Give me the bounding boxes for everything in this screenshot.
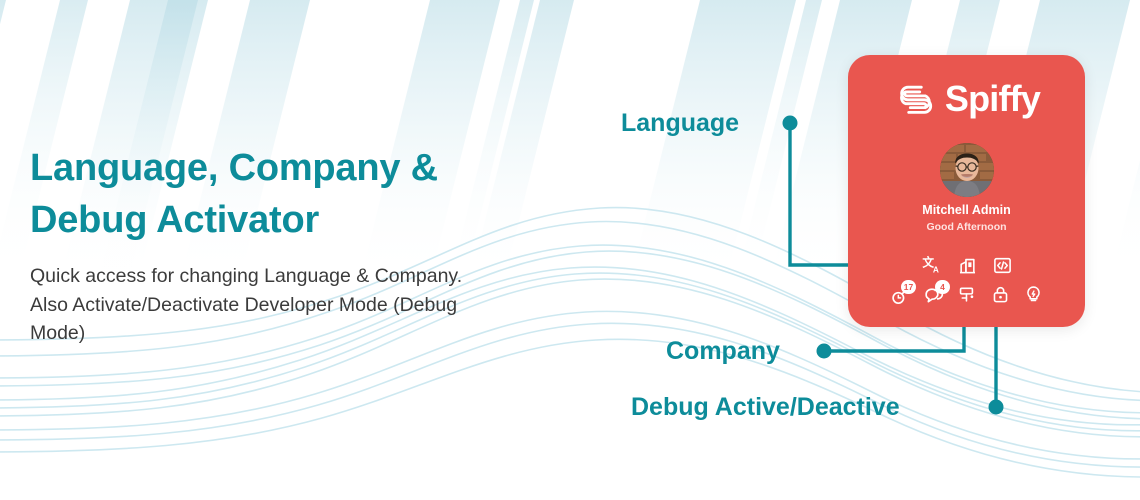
connector-dot-company <box>817 344 832 359</box>
connector-dot-language <box>783 116 798 131</box>
status-icons-row: 17 4 <box>848 285 1085 305</box>
company-building-icon[interactable] <box>958 256 977 275</box>
spiffy-user-card: Spiffy <box>848 55 1085 327</box>
brand-logo: Spiffy <box>848 77 1085 121</box>
clock-activity-icon[interactable]: 17 <box>890 285 910 305</box>
user-avatar-photo-icon <box>940 143 994 197</box>
lock-icon[interactable] <box>991 285 1010 304</box>
avatar[interactable] <box>940 143 994 197</box>
connector-dot-debug <box>989 400 1004 415</box>
quick-actions-row: 文 A <box>848 255 1085 275</box>
promo-banner: Language, Company & Debug Activator Quic… <box>0 0 1140 500</box>
brand-name: Spiffy <box>945 81 1040 117</box>
chat-bubble-icon[interactable]: 4 <box>924 285 944 305</box>
code-debug-icon[interactable] <box>993 256 1012 275</box>
svg-text:A: A <box>932 265 938 275</box>
lightbulb-icon[interactable] <box>1024 285 1043 304</box>
user-greeting: Good Afternoon <box>848 221 1085 233</box>
messages-badge: 4 <box>935 280 950 294</box>
translate-language-icon[interactable]: 文 A <box>922 255 942 275</box>
activity-badge: 17 <box>901 280 916 294</box>
task-list-icon[interactable] <box>958 285 977 304</box>
user-name: Mitchell Admin <box>848 203 1085 217</box>
spiffy-paperclip-s-logo-icon <box>893 77 937 121</box>
